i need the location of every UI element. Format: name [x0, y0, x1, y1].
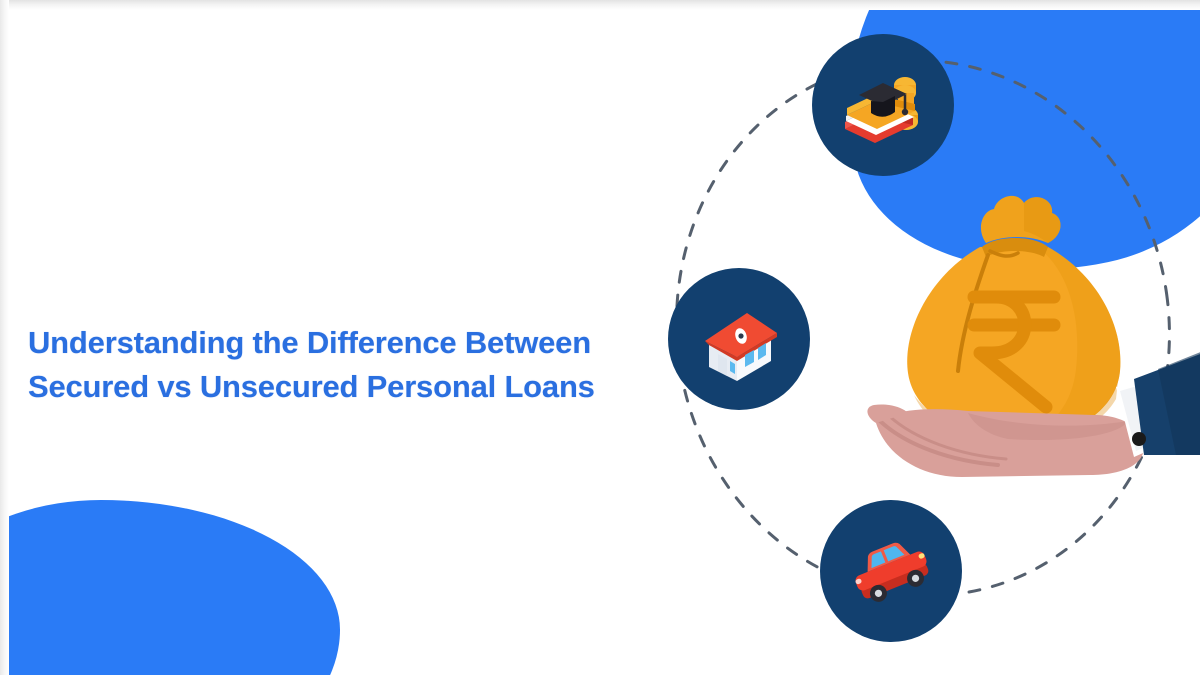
car-icon: [843, 523, 939, 619]
blue-blob-bottom-left: [0, 500, 340, 675]
loan-banner: Understanding the Difference Between Sec…: [0, 0, 1200, 675]
page-title: Understanding the Difference Between Sec…: [28, 321, 648, 409]
icon-bubble-car-loan[interactable]: [820, 500, 962, 642]
money-bag: [907, 196, 1120, 443]
page-title-line-1: Understanding the Difference Between: [28, 321, 648, 365]
hand-holding-money-bag: [858, 155, 1200, 515]
page-title-line-2: Secured vs Unsecured Personal Loans: [28, 365, 648, 409]
house-icon: [691, 291, 787, 387]
icon-bubble-home-loan[interactable]: [668, 268, 810, 410]
graduation-cap-books-icon: [835, 57, 931, 153]
